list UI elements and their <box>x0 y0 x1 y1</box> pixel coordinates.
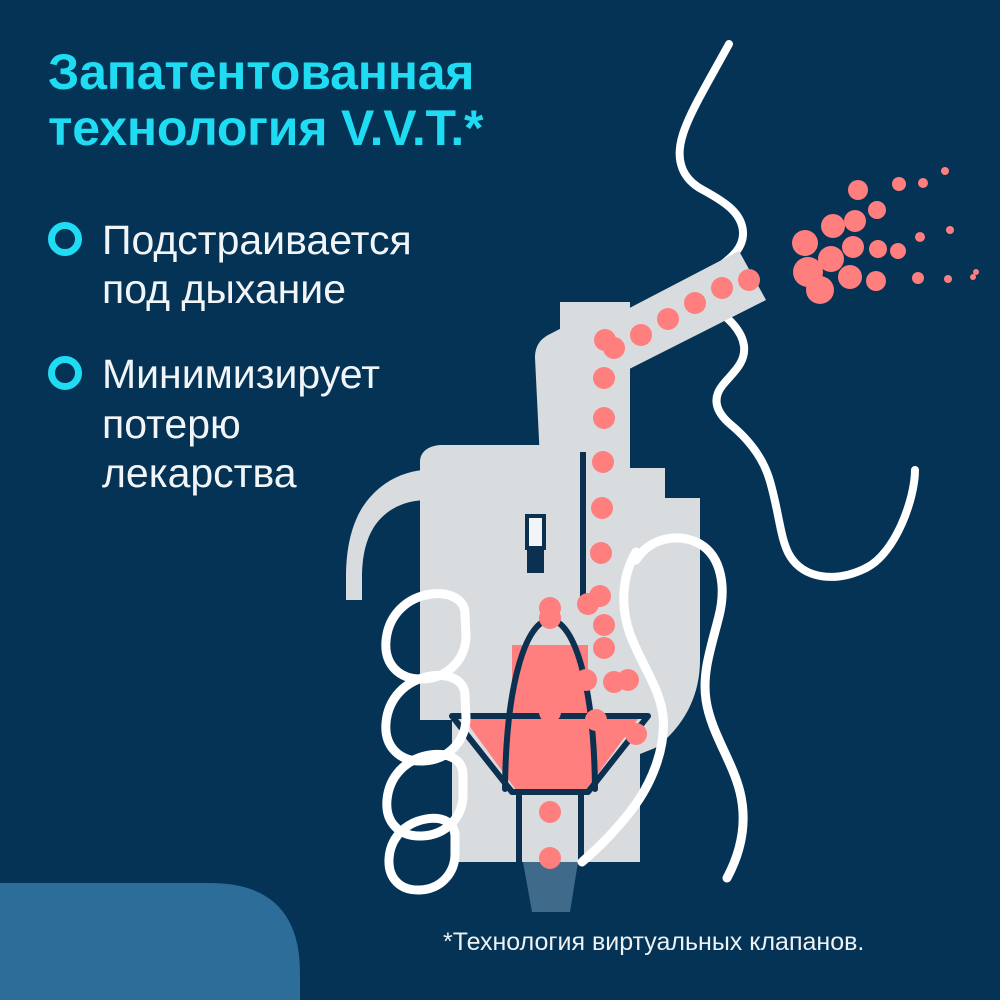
illustration-svg <box>0 0 1000 1000</box>
bottom-left-rounded-panel <box>0 883 300 1000</box>
device-indicator-window <box>527 516 544 573</box>
device-handle-hook <box>346 470 428 600</box>
aerosol-spray-particles <box>792 167 979 304</box>
air-hose-nozzle <box>523 862 578 912</box>
infographic-canvas: Запатентованная технология V.V.T.* Подст… <box>0 0 1000 1000</box>
